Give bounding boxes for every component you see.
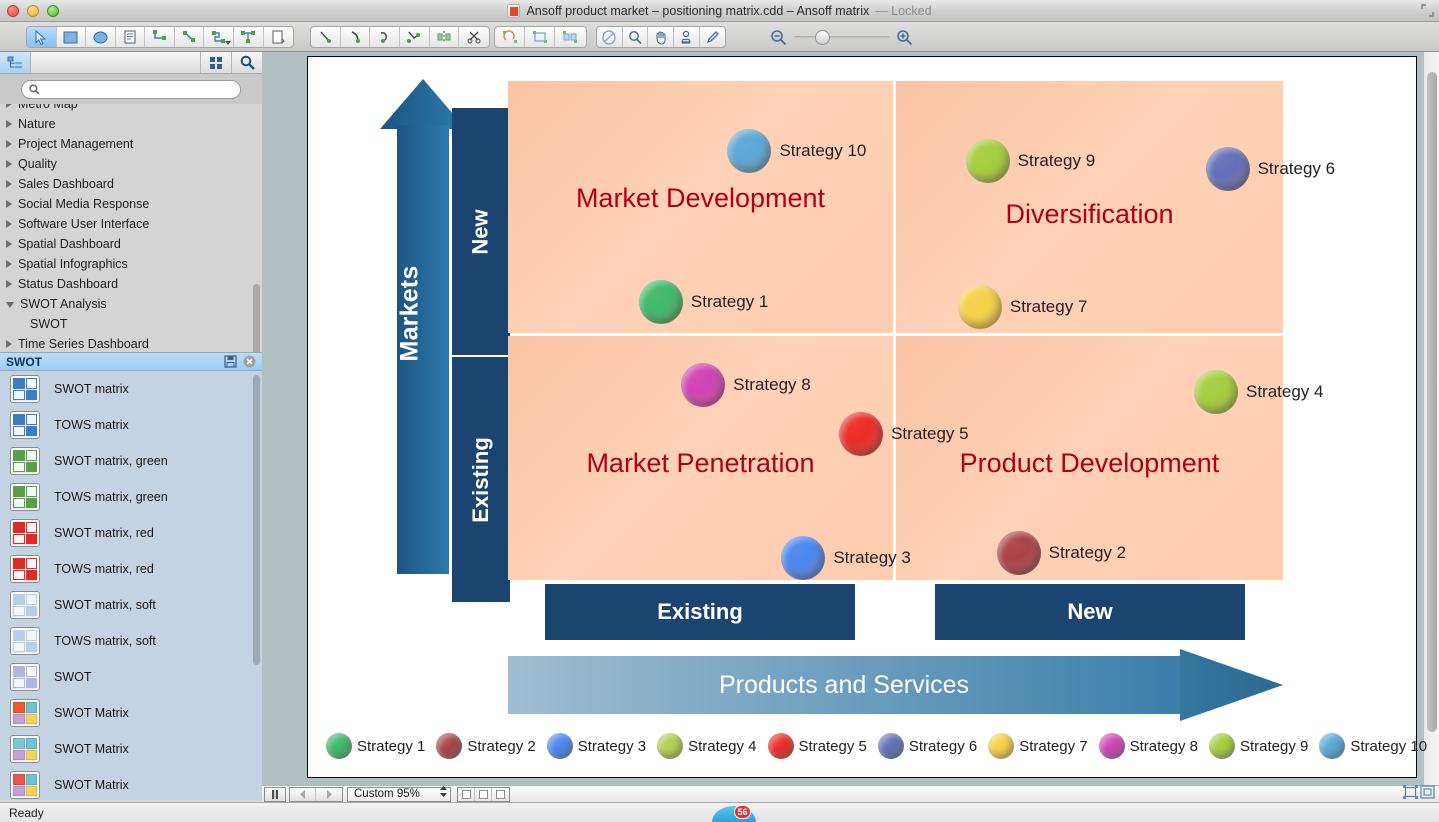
x-axis-bar-new-label: New <box>1067 599 1112 625</box>
arc-icon[interactable] <box>341 27 371 47</box>
tree-item-label: Status Dashboard <box>18 277 118 291</box>
strategy-marker-label: Strategy 10 <box>779 141 866 161</box>
left-sidebar: Metro MapNatureProject ManagementQuality… <box>0 52 262 800</box>
sidebar-search-area <box>0 74 262 104</box>
chevron-right-icon[interactable] <box>6 240 12 248</box>
magnifier-icon[interactable] <box>623 27 649 47</box>
rotate-icon[interactable] <box>495 27 525 47</box>
strategy-marker[interactable]: Strategy 9 <box>966 139 1096 183</box>
chevron-right-icon[interactable] <box>6 220 12 228</box>
shape-list-item-label: TOWS matrix <box>54 418 129 432</box>
shape-list-item-label: SWOT matrix, red <box>54 526 154 540</box>
legend-item[interactable]: Strategy 9 <box>1209 733 1308 759</box>
strategy-marker-label: Strategy 6 <box>1258 159 1336 179</box>
tree-item-label: Social Media Response <box>18 197 149 211</box>
shape-library-tree[interactable]: Metro MapNatureProject ManagementQuality… <box>0 104 262 358</box>
swot-matrix-green-icon[interactable] <box>10 447 40 475</box>
tree-item-label: Time Series Dashboard <box>18 337 149 351</box>
straight-line-icon[interactable] <box>311 27 341 47</box>
legend-item[interactable]: Strategy 5 <box>768 733 867 759</box>
strategy-marker[interactable]: Strategy 4 <box>1194 370 1324 414</box>
tree-item-software-user-interface[interactable]: Software User Interface <box>0 214 252 234</box>
fit-selection-icon[interactable] <box>1403 785 1418 804</box>
legend-item[interactable]: Strategy 4 <box>657 733 756 759</box>
quadrant-title-market-development: Market Development <box>508 183 893 214</box>
swot-arrow-icon[interactable] <box>10 663 40 691</box>
legend-item-label: Strategy 4 <box>688 738 756 755</box>
tree-item-label: Spatial Dashboard <box>18 237 121 251</box>
canvas-vscrollbar-thumb[interactable] <box>1427 72 1437 732</box>
zoom-level-value: Custom 95% <box>354 788 439 800</box>
shape-list-item-label: SWOT Matrix <box>54 778 129 792</box>
strategy-marker[interactable]: Strategy 10 <box>727 129 866 173</box>
sidebar-toolbar <box>0 52 262 74</box>
polyline-icon[interactable] <box>400 27 430 47</box>
tree-item-label: Sales Dashboard <box>18 177 114 191</box>
multi-connector-icon[interactable] <box>234 27 264 47</box>
fullscreen-icon[interactable] <box>1421 4 1434 17</box>
tree-item-label: Software User Interface <box>18 217 149 231</box>
toolbar-group-select-tools <box>26 26 294 48</box>
stepper-icon[interactable] <box>439 785 448 803</box>
tree-item-label: Spatial Infographics <box>18 257 128 271</box>
tree-item-project-management[interactable]: Project Management <box>0 134 252 154</box>
diagram-page[interactable]: Markets New Existing Market Development … <box>307 56 1417 778</box>
smart-connector-icon[interactable] <box>204 27 234 47</box>
tree-item-nature[interactable]: Nature <box>0 114 252 134</box>
strategy-marker[interactable]: Strategy 3 <box>781 536 911 580</box>
shape-list-item-label: TOWS matrix, soft <box>54 634 156 648</box>
chevron-right-icon[interactable] <box>6 340 12 348</box>
products-arrow-head <box>1180 649 1283 721</box>
legend-item-label: Strategy 1 <box>357 738 425 755</box>
swot-matrix-pastel-icon[interactable] <box>10 735 40 763</box>
chevron-right-icon[interactable] <box>6 104 12 108</box>
x-axis-bar-existing: Existing <box>545 584 855 640</box>
close-icon[interactable] <box>243 355 256 368</box>
tree-item-social-media-response[interactable]: Social Media Response <box>0 194 252 214</box>
y-axis-bar-new: New <box>452 108 510 355</box>
x-axis-bar-existing-label: Existing <box>657 599 743 625</box>
align-icon[interactable] <box>525 27 555 47</box>
tree-item-label: SWOT Analysis <box>20 297 107 311</box>
tree-item-spatial-dashboard[interactable]: Spatial Dashboard <box>0 234 252 254</box>
tree-scrollbar-thumb[interactable] <box>253 284 260 358</box>
shape-list-item-label: TOWS matrix, red <box>54 562 154 576</box>
rectangle-icon[interactable] <box>57 27 87 47</box>
toolbar-group-line-tools <box>310 26 490 48</box>
window-title-text: Ansoff product market – positioning matr… <box>526 4 869 18</box>
chevron-down-icon[interactable] <box>6 302 14 308</box>
chevron-right-icon[interactable] <box>6 180 12 188</box>
legend-item-label: Strategy 5 <box>799 738 867 755</box>
products-services-axis-arrow: Products and Services <box>508 649 1283 721</box>
legend-item-label: Strategy 10 <box>1350 738 1427 755</box>
shape-list-item[interactable]: SWOT Matrix <box>0 731 262 767</box>
strategy-marker-label: Strategy 8 <box>733 375 811 395</box>
strategy-marker[interactable]: Strategy 7 <box>958 285 1088 329</box>
legend-item-label: Strategy 3 <box>578 738 646 755</box>
shape-list-item-label: SWOT matrix, green <box>54 454 168 468</box>
sidebar-toolbar-spacer <box>31 52 200 73</box>
shape-list-item[interactable]: SWOT matrix <box>0 371 262 407</box>
zoom-slider-track[interactable] <box>794 36 890 39</box>
shape-list-item[interactable]: TOWS matrix, green <box>0 479 262 515</box>
canvas-vertical-scrollbar[interactable] <box>1423 52 1439 785</box>
shape-list-item-label: SWOT Matrix <box>54 706 129 720</box>
strategy-marker-label: Strategy 5 <box>891 424 969 444</box>
shape-list-item-label: SWOT matrix <box>54 382 129 396</box>
strategy-marker[interactable]: Strategy 8 <box>681 363 811 407</box>
swot-panel-header[interactable]: SWOT <box>0 352 262 371</box>
search-input[interactable] <box>45 83 225 95</box>
swot-matrix-blue-icon[interactable] <box>10 375 40 403</box>
grid-view-icon[interactable] <box>200 52 231 73</box>
quadrant-diversification[interactable]: Diversification <box>896 81 1283 333</box>
chart-legend: Strategy 1Strategy 2Strategy 3Strategy 4… <box>326 729 1401 763</box>
shape-list-item-label: SWOT matrix, soft <box>54 598 156 612</box>
search-field-wrapper[interactable] <box>21 80 241 99</box>
zoom-slider-control[interactable] <box>770 26 915 48</box>
tree-item-swot[interactable]: SWOT <box>0 314 252 334</box>
pointer-icon[interactable] <box>27 27 57 47</box>
legend-item-label: Strategy 6 <box>909 738 977 755</box>
view-mode-grid-button[interactable] <box>492 788 509 801</box>
main-toolbar <box>0 22 1439 52</box>
shape-list-scrollbar-thumb[interactable] <box>253 375 260 665</box>
swot-matrix-soft-icon[interactable] <box>10 591 40 619</box>
legend-item-label: Strategy 7 <box>1019 738 1087 755</box>
search-icon <box>29 84 40 95</box>
legend-item[interactable]: Strategy 6 <box>878 733 977 759</box>
swot-matrix-petal-icon[interactable] <box>10 771 40 799</box>
tows-matrix-green-icon[interactable] <box>10 483 40 511</box>
curve-icon[interactable] <box>370 27 400 47</box>
window-title: Ansoff product market – positioning matr… <box>0 0 1439 22</box>
tree-item-label: Project Management <box>18 137 133 151</box>
document-icon <box>507 4 520 18</box>
tree-view-icon[interactable] <box>0 52 31 73</box>
swot-panel-title: SWOT <box>6 355 218 369</box>
tree-item-status-dashboard[interactable]: Status Dashboard <box>0 274 252 294</box>
chevron-right-icon[interactable] <box>6 120 12 128</box>
connector-icon[interactable] <box>145 27 175 47</box>
legend-item[interactable]: Strategy 2 <box>436 733 535 759</box>
stamp-icon[interactable] <box>674 27 700 47</box>
legend-item[interactable]: Strategy 7 <box>988 733 1087 759</box>
legend-item[interactable]: Strategy 10 <box>1319 733 1427 759</box>
floppy-disk-icon[interactable] <box>224 355 237 368</box>
dock-badge-count: 56 <box>734 805 751 819</box>
tree-item-swot-analysis[interactable]: SWOT Analysis <box>0 294 252 314</box>
legend-item-label: Strategy 2 <box>467 738 535 755</box>
strategy-marker[interactable]: Strategy 1 <box>639 280 769 324</box>
zoom-slider-handle[interactable] <box>815 30 830 45</box>
shape-icon[interactable] <box>597 27 623 47</box>
markets-axis-label: Markets <box>396 224 425 404</box>
chevron-right-icon[interactable] <box>6 260 12 268</box>
shape-list-item[interactable]: TOWS matrix, red <box>0 551 262 587</box>
chevron-right-icon[interactable] <box>6 160 12 168</box>
line-connector-icon[interactable] <box>175 27 205 47</box>
shape-list-item[interactable]: TOWS matrix <box>0 407 262 443</box>
tows-matrix-red-icon[interactable] <box>10 555 40 583</box>
shape-list-item[interactable]: TOWS matrix, soft <box>0 623 262 659</box>
strategy-marker-label: Strategy 4 <box>1246 382 1324 402</box>
mirror-icon[interactable] <box>430 27 460 47</box>
tree-item-label: Quality <box>18 157 57 171</box>
strategy-marker-label: Strategy 9 <box>1018 151 1096 171</box>
swot-matrix-red-icon[interactable] <box>10 519 40 547</box>
tree-item-label: Metro Map <box>18 104 78 111</box>
shape-list-item[interactable]: SWOT Matrix <box>0 767 262 800</box>
toolbar-group-view-tools <box>596 26 726 48</box>
strategy-marker[interactable]: Strategy 2 <box>997 531 1127 575</box>
quadrant-title-market-penetration: Market Penetration <box>508 448 893 479</box>
pause-icon[interactable] <box>264 787 286 802</box>
tows-matrix-soft-icon[interactable] <box>10 627 40 655</box>
bottom-bar-right-buttons[interactable] <box>1403 785 1435 804</box>
strategy-marker-label: Strategy 1 <box>691 292 769 312</box>
tree-item-sales-dashboard[interactable]: Sales Dashboard <box>0 174 252 194</box>
swot-matrix-color-icon[interactable] <box>10 699 40 727</box>
tree-item-metro-map[interactable]: Metro Map <box>0 104 252 114</box>
shape-list-item[interactable]: SWOT matrix, green <box>0 443 262 479</box>
chevron-right-icon[interactable] <box>6 140 12 148</box>
tree-item-time-series-dashboard[interactable]: Time Series Dashboard <box>0 334 252 354</box>
strategy-marker-label: Strategy 2 <box>1049 543 1127 563</box>
prev-page-button[interactable] <box>290 788 316 801</box>
text-icon[interactable] <box>116 27 146 47</box>
distribute-icon[interactable] <box>555 27 585 47</box>
scissors-icon[interactable] <box>459 27 489 47</box>
chevron-right-icon[interactable] <box>6 280 12 288</box>
zoom-out-icon[interactable] <box>770 29 787 51</box>
strategy-marker[interactable]: Strategy 5 <box>839 412 969 456</box>
y-axis-bar-existing: Existing <box>452 357 510 602</box>
view-mode-double-button[interactable] <box>475 788 492 801</box>
tree-item-spatial-infographics[interactable]: Spatial Infographics <box>0 254 252 274</box>
eyedropper-icon[interactable] <box>700 27 725 47</box>
legend-item-label: Strategy 9 <box>1240 738 1308 755</box>
strategy-marker-label: Strategy 3 <box>833 548 911 568</box>
shape-list-item[interactable]: SWOT matrix, red <box>0 515 262 551</box>
view-mode-single-button[interactable] <box>458 788 475 801</box>
y-axis-bar-existing-label: Existing <box>468 437 494 523</box>
legend-item-label: Strategy 8 <box>1130 738 1198 755</box>
x-axis-bar-new: New <box>935 584 1245 640</box>
legend-item[interactable]: Strategy 8 <box>1099 733 1198 759</box>
toolbar-group-arrange-tools <box>494 26 587 48</box>
sidebar-search-icon[interactable] <box>231 52 262 73</box>
y-axis-bar-new-label: New <box>468 209 494 254</box>
chevron-right-icon[interactable] <box>6 200 12 208</box>
tree-item-label: SWOT <box>30 317 68 331</box>
view-mode-buttons[interactable] <box>457 787 510 802</box>
strategy-marker[interactable]: Strategy 6 <box>1206 147 1336 191</box>
hand-icon[interactable] <box>648 27 674 47</box>
tows-matrix-blue-icon[interactable] <box>10 411 40 439</box>
quadrant-title-diversification: Diversification <box>896 199 1283 230</box>
ellipse-icon[interactable] <box>86 27 116 47</box>
tree-item-quality[interactable]: Quality <box>0 154 252 174</box>
shape-list-item-label: SWOT <box>54 670 92 684</box>
swot-shape-list[interactable]: SWOT matrixTOWS matrixSWOT matrix, green… <box>0 371 262 800</box>
shape-list-item-label: SWOT Matrix <box>54 742 129 756</box>
fit-page-icon[interactable] <box>1420 785 1435 804</box>
products-services-axis-label: Products and Services <box>508 656 1180 714</box>
status-message: Ready <box>9 806 44 820</box>
window-titlebar: Ansoff product market – positioning matr… <box>0 0 1439 22</box>
zoom-in-icon[interactable] <box>896 29 913 51</box>
strategy-marker-label: Strategy 7 <box>1010 297 1088 317</box>
page-icon[interactable] <box>264 27 294 47</box>
zoom-level-select[interactable]: Custom 95% <box>347 787 451 802</box>
page-nav-buttons[interactable] <box>289 787 343 802</box>
shape-list-item[interactable]: SWOT Matrix <box>0 695 262 731</box>
canvas-area[interactable]: Markets New Existing Market Development … <box>262 52 1439 785</box>
next-page-button[interactable] <box>316 788 342 801</box>
window-locked-badge: — Locked <box>875 4 931 18</box>
bottom-control-bar: Custom 95% <box>262 785 1439 802</box>
shape-list-item-label: TOWS matrix, green <box>54 490 168 504</box>
legend-item[interactable]: Strategy 3 <box>547 733 646 759</box>
shape-list-item[interactable]: SWOT matrix, soft <box>0 587 262 623</box>
shape-list-item[interactable]: SWOT <box>0 659 262 695</box>
tree-item-label: Nature <box>18 117 56 131</box>
legend-item[interactable]: Strategy 1 <box>326 733 425 759</box>
